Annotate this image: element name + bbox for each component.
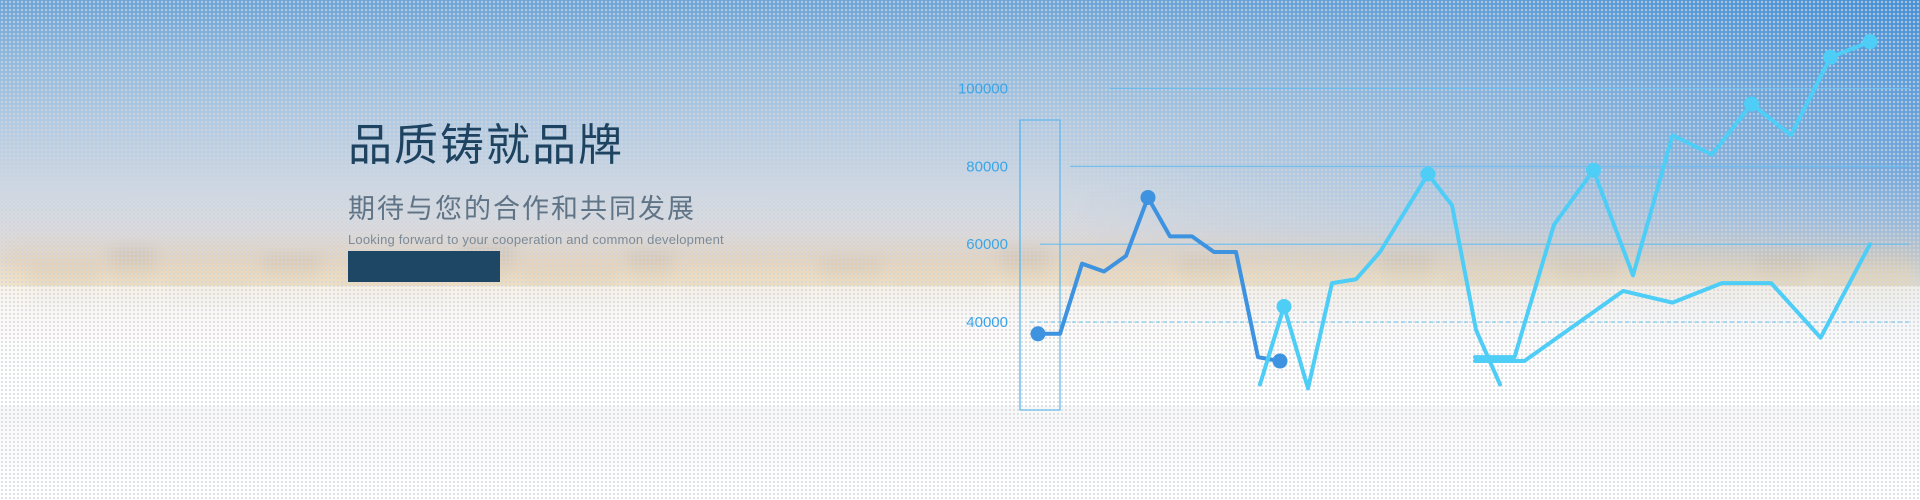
chart-data-point[interactable] xyxy=(1141,190,1156,205)
chart-data-point[interactable] xyxy=(1421,167,1436,182)
y-axis-tick-label: 80000 xyxy=(966,158,1008,175)
chart-data-point[interactable] xyxy=(1586,163,1601,178)
hero-banner: 品质铸就品牌 期待与您的合作和共同发展 Looking forward to y… xyxy=(0,0,1920,500)
hero-subtitle-en: Looking forward to your cooperation and … xyxy=(348,233,968,246)
chart-axis xyxy=(1020,120,1060,410)
chart-data-point[interactable] xyxy=(1031,326,1046,341)
chart-line xyxy=(1475,42,1870,357)
hero-cta-button[interactable] xyxy=(348,251,500,282)
chart-line xyxy=(1260,174,1500,388)
chart-data-point[interactable] xyxy=(1277,299,1292,314)
hero-subtitle-cn: 期待与您的合作和共同发展 xyxy=(348,196,968,223)
chart-y-axis-labels: 100000800006000040000 xyxy=(958,80,1008,331)
chart-line xyxy=(1475,244,1870,361)
hero-text-block: 品质铸就品牌 期待与您的合作和共同发展 Looking forward to y… xyxy=(348,124,968,246)
y-axis-tick-label: 60000 xyxy=(966,236,1008,253)
chart-canvas: 100000800006000040000 xyxy=(930,0,1920,500)
chart-data-point[interactable] xyxy=(1863,34,1878,49)
chart-data-point[interactable] xyxy=(1823,50,1838,65)
y-axis-tick-label: 40000 xyxy=(966,314,1008,331)
y-axis-tick-label: 100000 xyxy=(958,80,1008,97)
page-title: 品质铸就品牌 xyxy=(348,124,968,168)
chart-line xyxy=(1038,197,1280,361)
chart-data-point[interactable] xyxy=(1273,354,1288,369)
chart-series xyxy=(1031,34,1878,388)
chart-data-point[interactable] xyxy=(1744,97,1759,112)
line-chart: 100000800006000040000 xyxy=(930,0,1920,500)
